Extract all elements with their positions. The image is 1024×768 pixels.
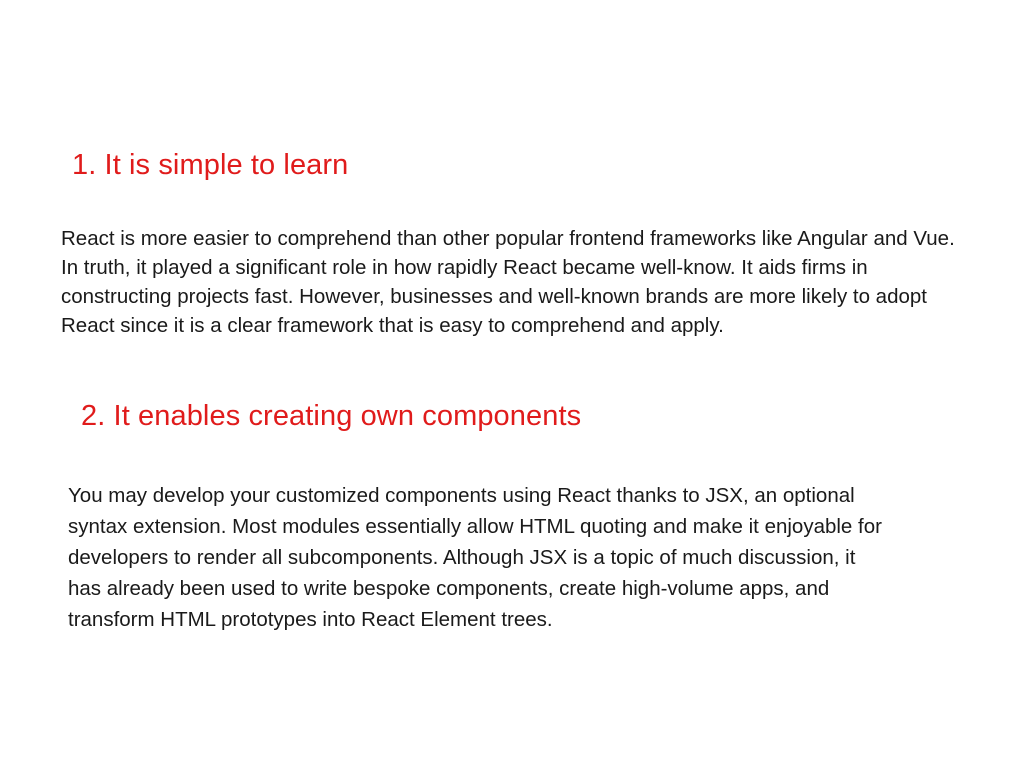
slide-canvas: 1. It is simple to learn React is more e… (0, 0, 1024, 768)
section-1-paragraph: React is more easier to comprehend than … (61, 224, 967, 340)
section-1-heading: 1. It is simple to learn (72, 148, 348, 182)
section-2-heading: 2. It enables creating own components (81, 399, 581, 433)
section-2-paragraph: You may develop your customized componen… (68, 480, 890, 635)
